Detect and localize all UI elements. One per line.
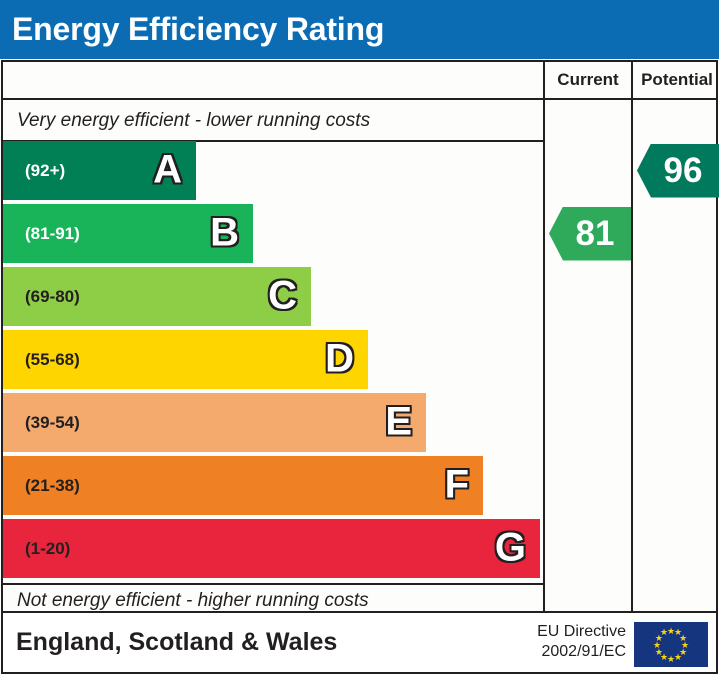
energy-efficiency-rating-chart: Energy Efficiency Rating Current Potenti… [0,0,719,675]
band-letter-f: F [445,462,469,507]
footer-directive-line2: 2002/91/EC [537,642,626,662]
band-letter-e: E [385,399,412,444]
footer-region-label: England, Scotland & Wales [16,627,337,656]
band-range-c: (69-80) [25,287,80,307]
column-divider-current [543,62,545,611]
band-letter-a: A [153,147,182,192]
potential-rating-arrow: 96 [637,144,719,198]
band-letter-g: G [495,525,526,570]
chart-footer: England, Scotland & Wales EU Directive 2… [1,613,718,674]
caption-bottom-rule [3,583,543,585]
potential-rating-value: 96 [664,151,703,191]
band-row-e: (39-54)E [3,393,426,452]
chart-header: Energy Efficiency Rating [0,0,719,59]
band-row-c: (69-80)C [3,267,311,326]
band-row-d: (55-68)D [3,330,368,389]
band-range-d: (55-68) [25,350,80,370]
caption-bottom: Not energy efficient - higher running co… [17,590,369,612]
column-header-current: Current [545,70,631,90]
eu-flag-icon [634,622,708,667]
band-bar-a: (92+)A [3,141,196,200]
footer-directive-line1: EU Directive [537,622,626,642]
band-row-a: (92+)A [3,141,196,200]
band-letter-d: D [325,336,354,381]
band-row-g: (1-20)G [3,519,540,578]
band-range-b: (81-91) [25,224,80,244]
footer-directive: EU Directive 2002/91/EC [537,622,626,662]
page-title: Energy Efficiency Rating [12,10,384,47]
band-bar-d: (55-68)D [3,330,368,389]
band-bar-c: (69-80)C [3,267,311,326]
band-letter-c: C [268,273,297,318]
band-row-b: (81-91)B [3,204,253,263]
column-divider-potential [631,62,633,611]
band-bar-b: (81-91)B [3,204,253,263]
band-letter-b: B [210,210,239,255]
band-bars-group: (92+)A(81-91)B(69-80)C(55-68)D(39-54)E(2… [3,141,543,583]
current-rating-arrow: 81 [549,207,631,261]
band-bar-f: (21-38)F [3,456,483,515]
band-range-f: (21-38) [25,476,80,496]
caption-top: Very energy efficient - lower running co… [17,110,370,132]
rating-table: Current Potential Very energy efficient … [1,60,718,613]
current-rating-value: 81 [576,214,615,254]
column-header-potential: Potential [633,70,719,90]
band-range-e: (39-54) [25,413,80,433]
band-bar-e: (39-54)E [3,393,426,452]
band-row-f: (21-38)F [3,456,483,515]
band-range-a: (92+) [25,161,65,181]
band-bar-g: (1-20)G [3,519,540,578]
band-range-g: (1-20) [25,539,70,559]
